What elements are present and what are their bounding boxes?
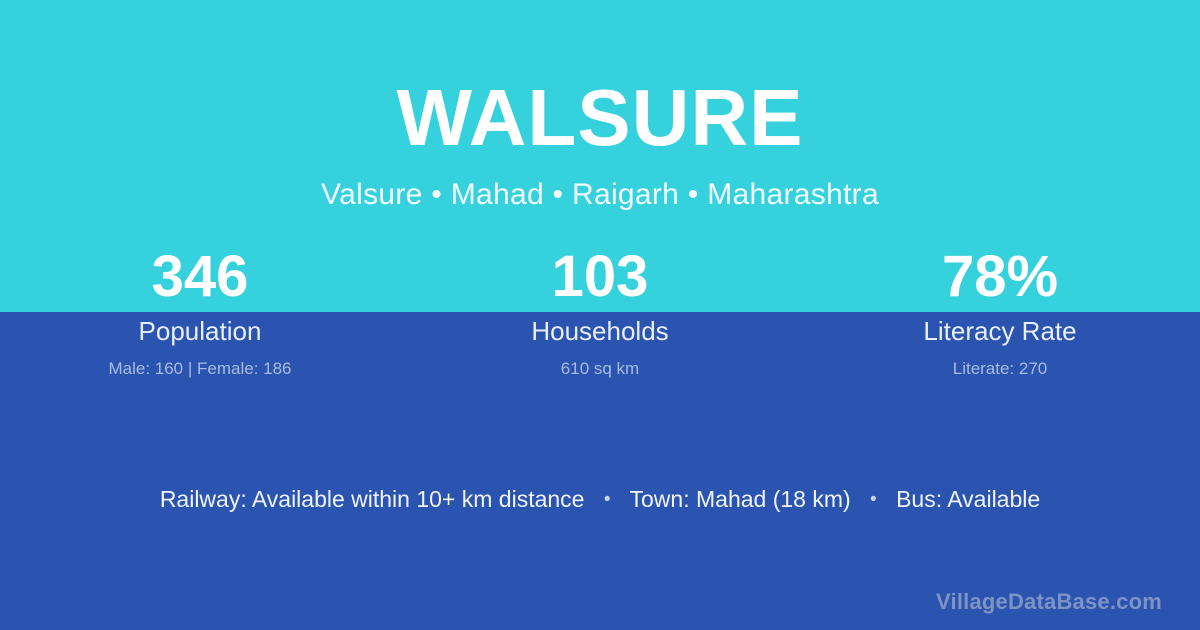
stat-literacy-label: Literacy Rate <box>800 312 1200 348</box>
card-header: WALSURE Valsure • Mahad • Raigarh • Maha… <box>0 0 1200 210</box>
stat-households-area: 610 sq km <box>400 348 800 381</box>
facility-separator-icon: • <box>591 484 624 516</box>
village-info-card: WALSURE Valsure • Mahad • Raigarh • Maha… <box>0 0 1200 630</box>
stat-households: 103 Households 610 sq km <box>400 243 800 381</box>
stat-households-label: Households <box>400 312 800 348</box>
facility-separator-icon: • <box>857 484 890 516</box>
stat-households-value: 103 <box>400 243 800 312</box>
stat-literacy-count: Literate: 270 <box>800 348 1200 381</box>
site-brand-watermark: VillageDataBase.com <box>936 588 1162 616</box>
stat-literacy-value: 78% <box>800 243 1200 312</box>
village-name-title: WALSURE <box>0 0 1200 158</box>
statistics-row: 346 Population Male: 160 | Female: 186 1… <box>0 243 1200 381</box>
facility-town: Town: Mahad (18 km) <box>630 486 851 512</box>
facility-bus: Bus: Available <box>896 486 1040 512</box>
stat-population-value: 346 <box>0 243 400 312</box>
stat-population-label: Population <box>0 312 400 348</box>
stat-population: 346 Population Male: 160 | Female: 186 <box>0 243 400 381</box>
village-location-breadcrumb: Valsure • Mahad • Raigarh • Maharashtra <box>0 158 1200 210</box>
facilities-line: Railway: Available within 10+ km distanc… <box>0 483 1200 516</box>
stat-literacy: 78% Literacy Rate Literate: 270 <box>800 243 1200 381</box>
facility-railway: Railway: Available within 10+ km distanc… <box>160 486 585 512</box>
stat-population-breakdown: Male: 160 | Female: 186 <box>0 348 400 381</box>
